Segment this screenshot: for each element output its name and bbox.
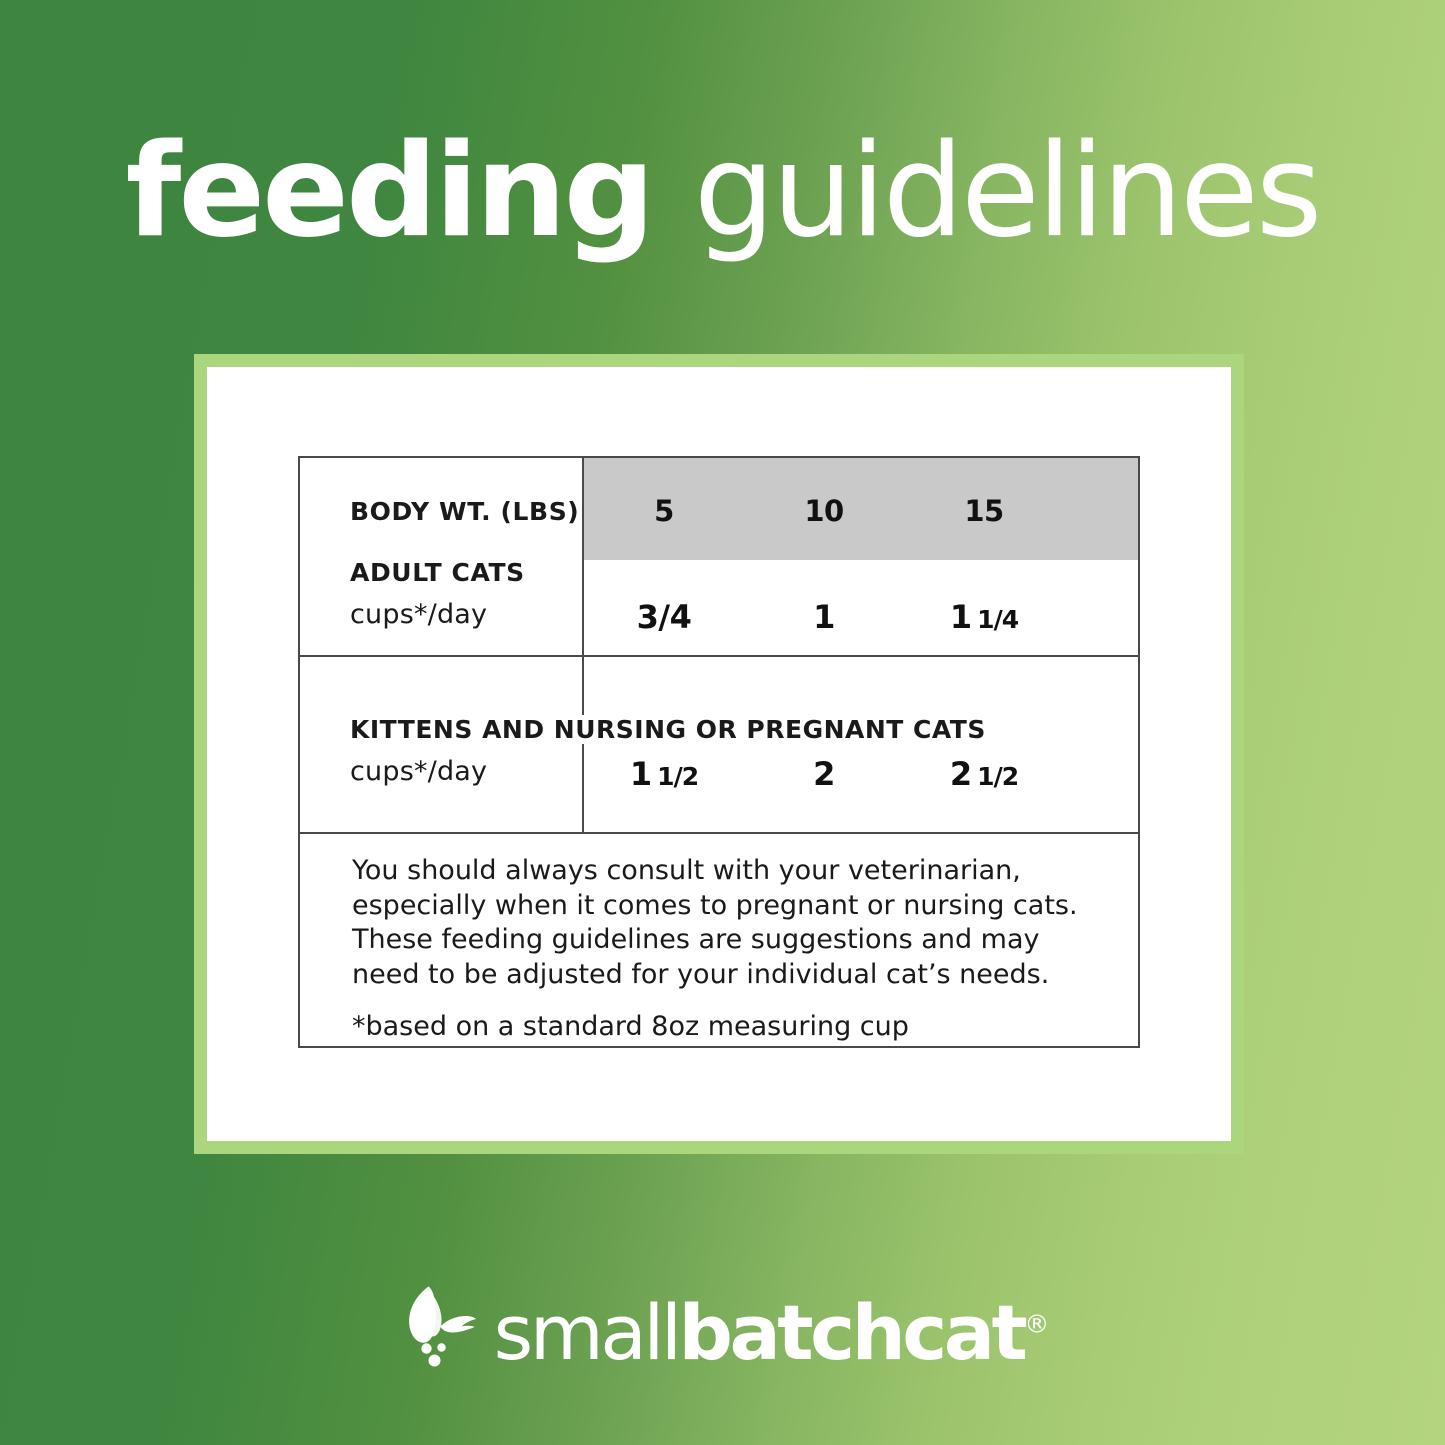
row-title-adult-cats: ADULT CATS [350,558,525,587]
disclaimer-line-3: These feeding guidelines are suggestions… [352,923,1092,958]
brand-small: small [494,1288,679,1377]
adult-value-2-whole: 1 [813,598,835,636]
brand-logo: smallbatchcat® [0,1258,1445,1408]
brand-wordmark: smallbatchcat® [494,1295,1050,1371]
row-divider-1 [300,655,1138,657]
row-divider-2 [300,832,1138,834]
brand-batchcat: batchcat [679,1288,1025,1377]
adult-value-3: 1 1/4 [904,598,1064,636]
row-title-kittens: KITTENS AND NURSING OR PREGNANT CATS [350,715,994,744]
adult-value-1: 3/4 [584,598,744,636]
page-title: feeding guidelines [0,128,1445,256]
kitten-value-1: 1 1/2 [584,755,744,793]
row-unit-adult-cats: cups*/day [350,599,487,630]
header-value-2: 10 [744,494,904,528]
adult-value-2: 1 [744,598,904,636]
kitten-value-1-frac: 1/2 [657,762,698,791]
kitten-value-1-whole: 1 [630,755,652,793]
disclaimer-line-4: need to be adjusted for your individual … [352,958,1092,993]
kitten-value-2-whole: 2 [813,755,835,793]
adult-value-3-frac: 1/4 [977,605,1018,634]
disclaimer-footnote: *based on a standard 8oz measuring cup [352,1010,1092,1045]
kitten-value-2: 2 [744,755,904,793]
kitten-value-3-whole: 2 [950,755,972,793]
feeding-table: BODY WT. (LBS) 5 10 15 ADULT CATS cups*/… [298,456,1140,1048]
kitten-value-3-frac: 1/2 [977,762,1018,791]
adult-value-3-whole: 1 [950,598,972,636]
header-value-1: 5 [584,494,744,528]
kitten-value-3: 2 1/2 [904,755,1064,793]
table-header-label: BODY WT. (LBS) [350,497,579,526]
page-title-tail: guidelines [694,117,1320,266]
page-title-lead: feeding [126,117,694,266]
disclaimer-block: You should always consult with your vete… [352,854,1092,1045]
registered-mark: ® [1024,1310,1049,1339]
disclaimer-line-2: especially when it comes to pregnant or … [352,889,1092,924]
header-value-3: 15 [904,494,1064,528]
leaf-sprout-icon [396,1282,488,1378]
adult-value-1-whole: 3/4 [637,598,692,636]
feeding-guidelines-poster: feeding guidelines BODY WT. (LBS) 5 10 1… [0,0,1445,1445]
row-unit-kittens: cups*/day [350,756,487,787]
disclaimer-line-1: You should always consult with your vete… [352,854,1092,889]
